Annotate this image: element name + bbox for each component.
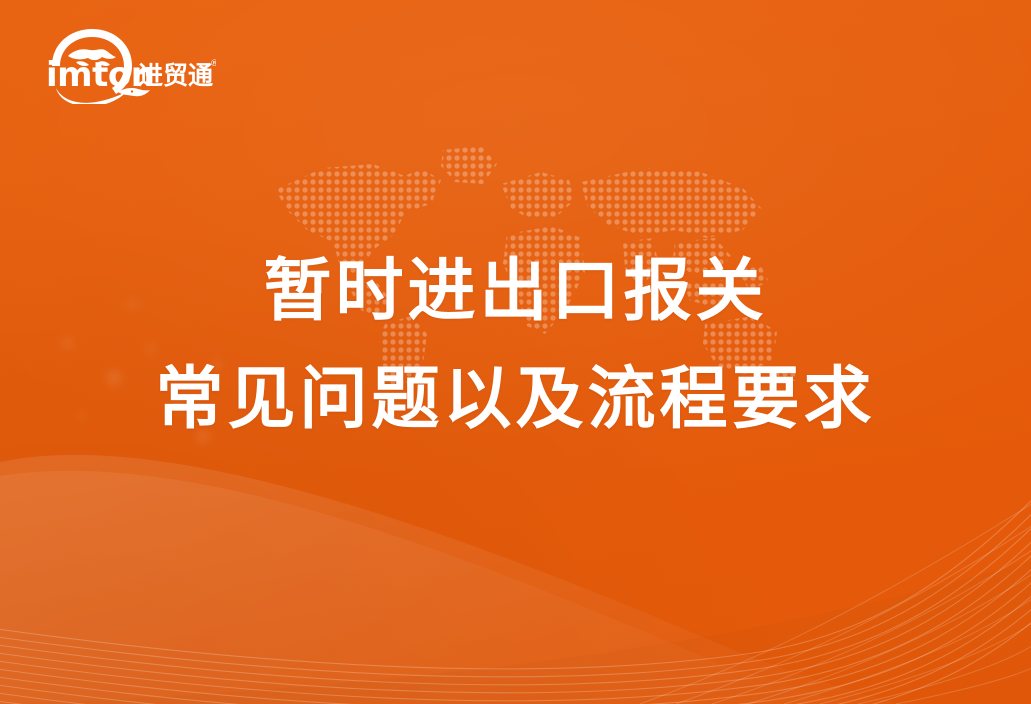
- wordmark-chinese: 进贸通 ®: [138, 59, 216, 90]
- svg-text:®: ®: [210, 59, 216, 69]
- svg-text:进贸通: 进贸通: [138, 61, 213, 90]
- page-title: 暂时进出口报关 常见问题以及流程要求: [0, 238, 1031, 454]
- title-line-2: 常见问题以及流程要求: [0, 346, 1031, 454]
- brand-logo[interactable]: imton 进贸通 ®: [46, 26, 216, 104]
- slide-canvas: imton 进贸通 ® 暂时进出口报关 常见问题以及流程要求: [0, 0, 1031, 704]
- title-line-1: 暂时进出口报关: [0, 238, 1031, 346]
